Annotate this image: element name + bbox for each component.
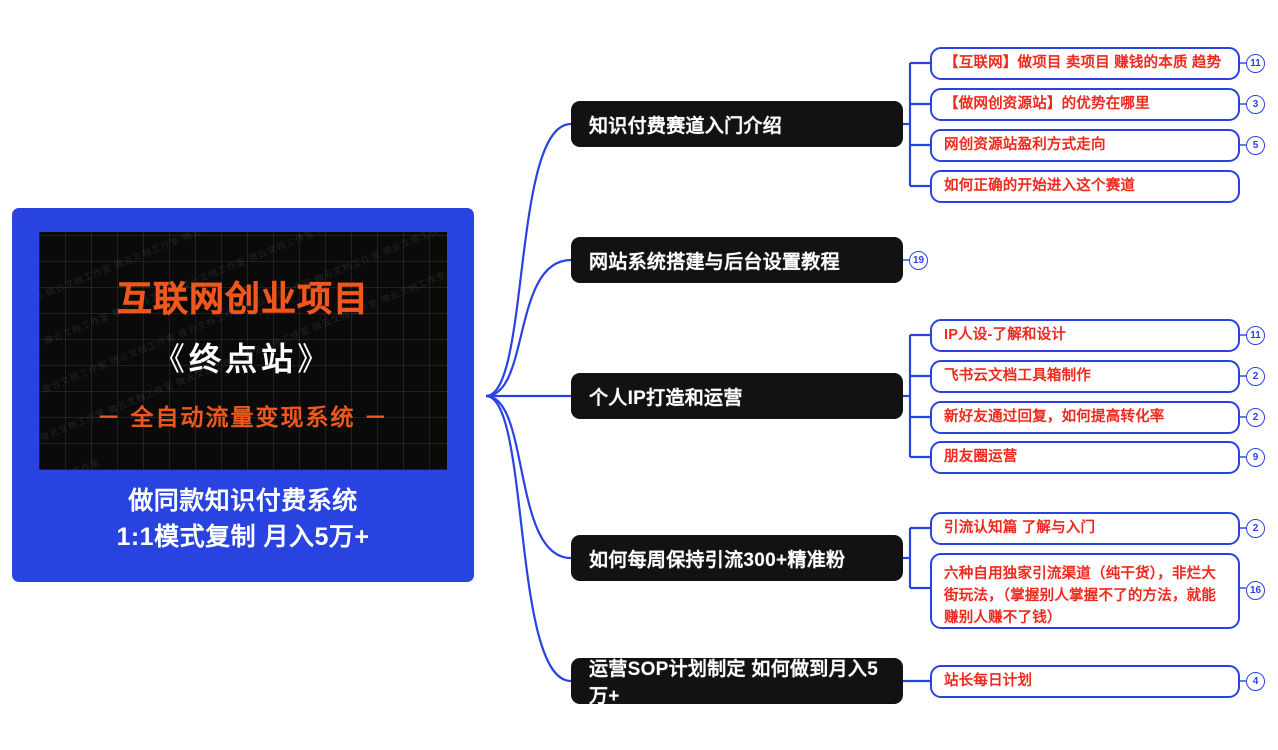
poster-subtitle-close: 》 [297,341,333,377]
mindmap-canvas: 微云文档工作室 微云文档工作室 微云文档工作室 微云文档工作室 微云文档工作室 … [0,0,1278,750]
leaf-node-3-3[interactable]: 新好友通过回复，如何提高转化率 [930,401,1240,434]
leaf-node-3-4-badge: 9 [1246,448,1265,467]
leaf-node-1-3-badge: 5 [1246,136,1265,155]
branch-node-1[interactable]: 知识付费赛道入门介绍 [571,101,903,147]
leaf-node-1-4[interactable]: 如何正确的开始进入这个赛道 [930,170,1240,203]
leaf-node-3-4[interactable]: 朋友圈运营 [930,441,1240,474]
leaf-node-4-1[interactable]: 引流认知篇 了解与入门 [930,512,1240,545]
branch-node-5[interactable]: 运营SOP计划制定 如何做到月入5万+ [571,658,903,704]
branch-node-4[interactable]: 如何每周保持引流300+精准粉 [571,535,903,581]
leaf-node-3-3-badge: 2 [1246,408,1265,427]
poster-tagline: － 全自动流量变现系统 － [97,398,389,432]
poster-subtitle-open: 《 [153,341,189,377]
leaf-node-1-1[interactable]: 【互联网】做项目 卖项目 赚钱的本质 趋势 [930,47,1240,80]
poster-title: 互联网创业项目 [117,271,369,322]
branch-node-2-badge: 19 [909,251,928,270]
poster-subtitle-text: 终点站 [189,341,297,377]
leaf-node-4-2-badge: 16 [1246,581,1265,600]
leaf-node-5-1[interactable]: 站长每日计划 [930,665,1240,698]
leaf-node-1-3[interactable]: 网创资源站盈利方式走向 [930,129,1240,162]
root-footer-line1: 做同款知识付费系统 [116,484,369,520]
branch-node-2[interactable]: 网站系统搭建与后台设置教程 [571,237,903,283]
leaf-node-5-1-badge: 4 [1246,672,1265,691]
leaf-node-1-2[interactable]: 【做网创资源站】的优势在哪里 [930,88,1240,121]
poster-subtitle: 《终点站》 [153,334,333,380]
root-poster-image: 微云文档工作室 微云文档工作室 微云文档工作室 微云文档工作室 微云文档工作室 … [39,232,447,470]
root-footer-line2: 1:1模式复制 月入5万+ [116,520,369,556]
leaf-node-3-1-badge: 11 [1246,326,1265,345]
leaf-node-3-1[interactable]: IP人设-了解和设计 [930,319,1240,352]
leaf-node-3-2-badge: 2 [1246,367,1265,386]
leaf-node-4-1-badge: 2 [1246,519,1265,538]
leaf-node-1-1-badge: 11 [1246,54,1265,73]
leaf-node-3-2[interactable]: 飞书云文档工具箱制作 [930,360,1240,393]
root-node[interactable]: 微云文档工作室 微云文档工作室 微云文档工作室 微云文档工作室 微云文档工作室 … [12,208,474,582]
leaf-node-1-2-badge: 3 [1246,95,1265,114]
branch-node-3[interactable]: 个人IP打造和运营 [571,373,903,419]
leaf-node-4-2[interactable]: 六种自用独家引流渠道（纯干货），非烂大街玩法，（掌握别人掌握不了的方法，就能赚别… [930,553,1240,629]
root-footer: 做同款知识付费系统 1:1模式复制 月入5万+ [116,484,369,555]
